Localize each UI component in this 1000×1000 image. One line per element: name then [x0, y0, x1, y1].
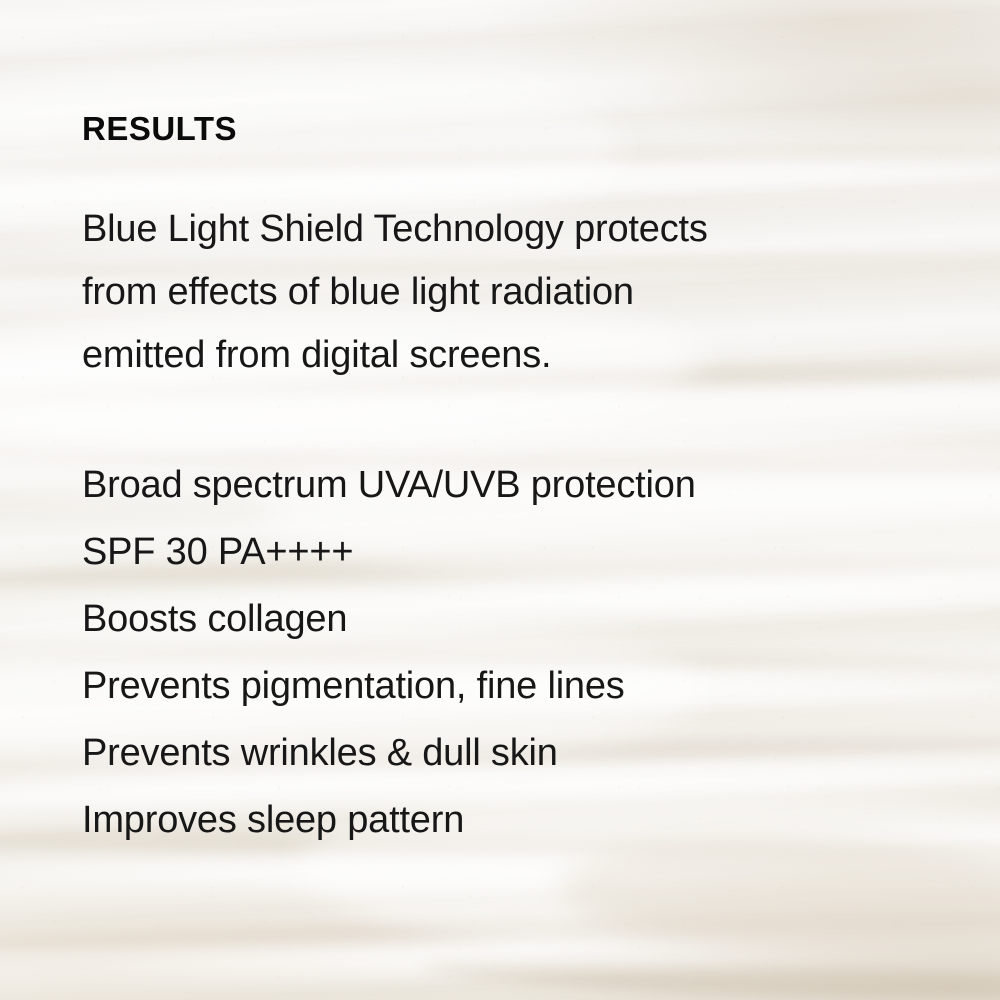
- page-title: RESULTS: [82, 112, 237, 145]
- list-item: Broad spectrum UVA/UVB protection: [82, 452, 942, 519]
- benefits-list: Broad spectrum UVA/UVB protection SPF 30…: [82, 452, 942, 854]
- list-item: Prevents pigmentation, fine lines: [82, 653, 942, 720]
- intro-line-3: emitted from digital screens.: [82, 324, 912, 387]
- list-item: Prevents wrinkles & dull skin: [82, 720, 942, 787]
- intro-line-2: from effects of blue light radiation: [82, 261, 912, 324]
- results-card: RESULTS Blue Light Shield Technology pro…: [0, 0, 1000, 1000]
- intro-line-1: Blue Light Shield Technology protects: [82, 198, 912, 261]
- list-item: SPF 30 PA++++: [82, 519, 942, 586]
- list-item: Boosts collagen: [82, 586, 942, 653]
- intro-paragraph: Blue Light Shield Technology protects fr…: [82, 198, 912, 387]
- list-item: Improves sleep pattern: [82, 787, 942, 854]
